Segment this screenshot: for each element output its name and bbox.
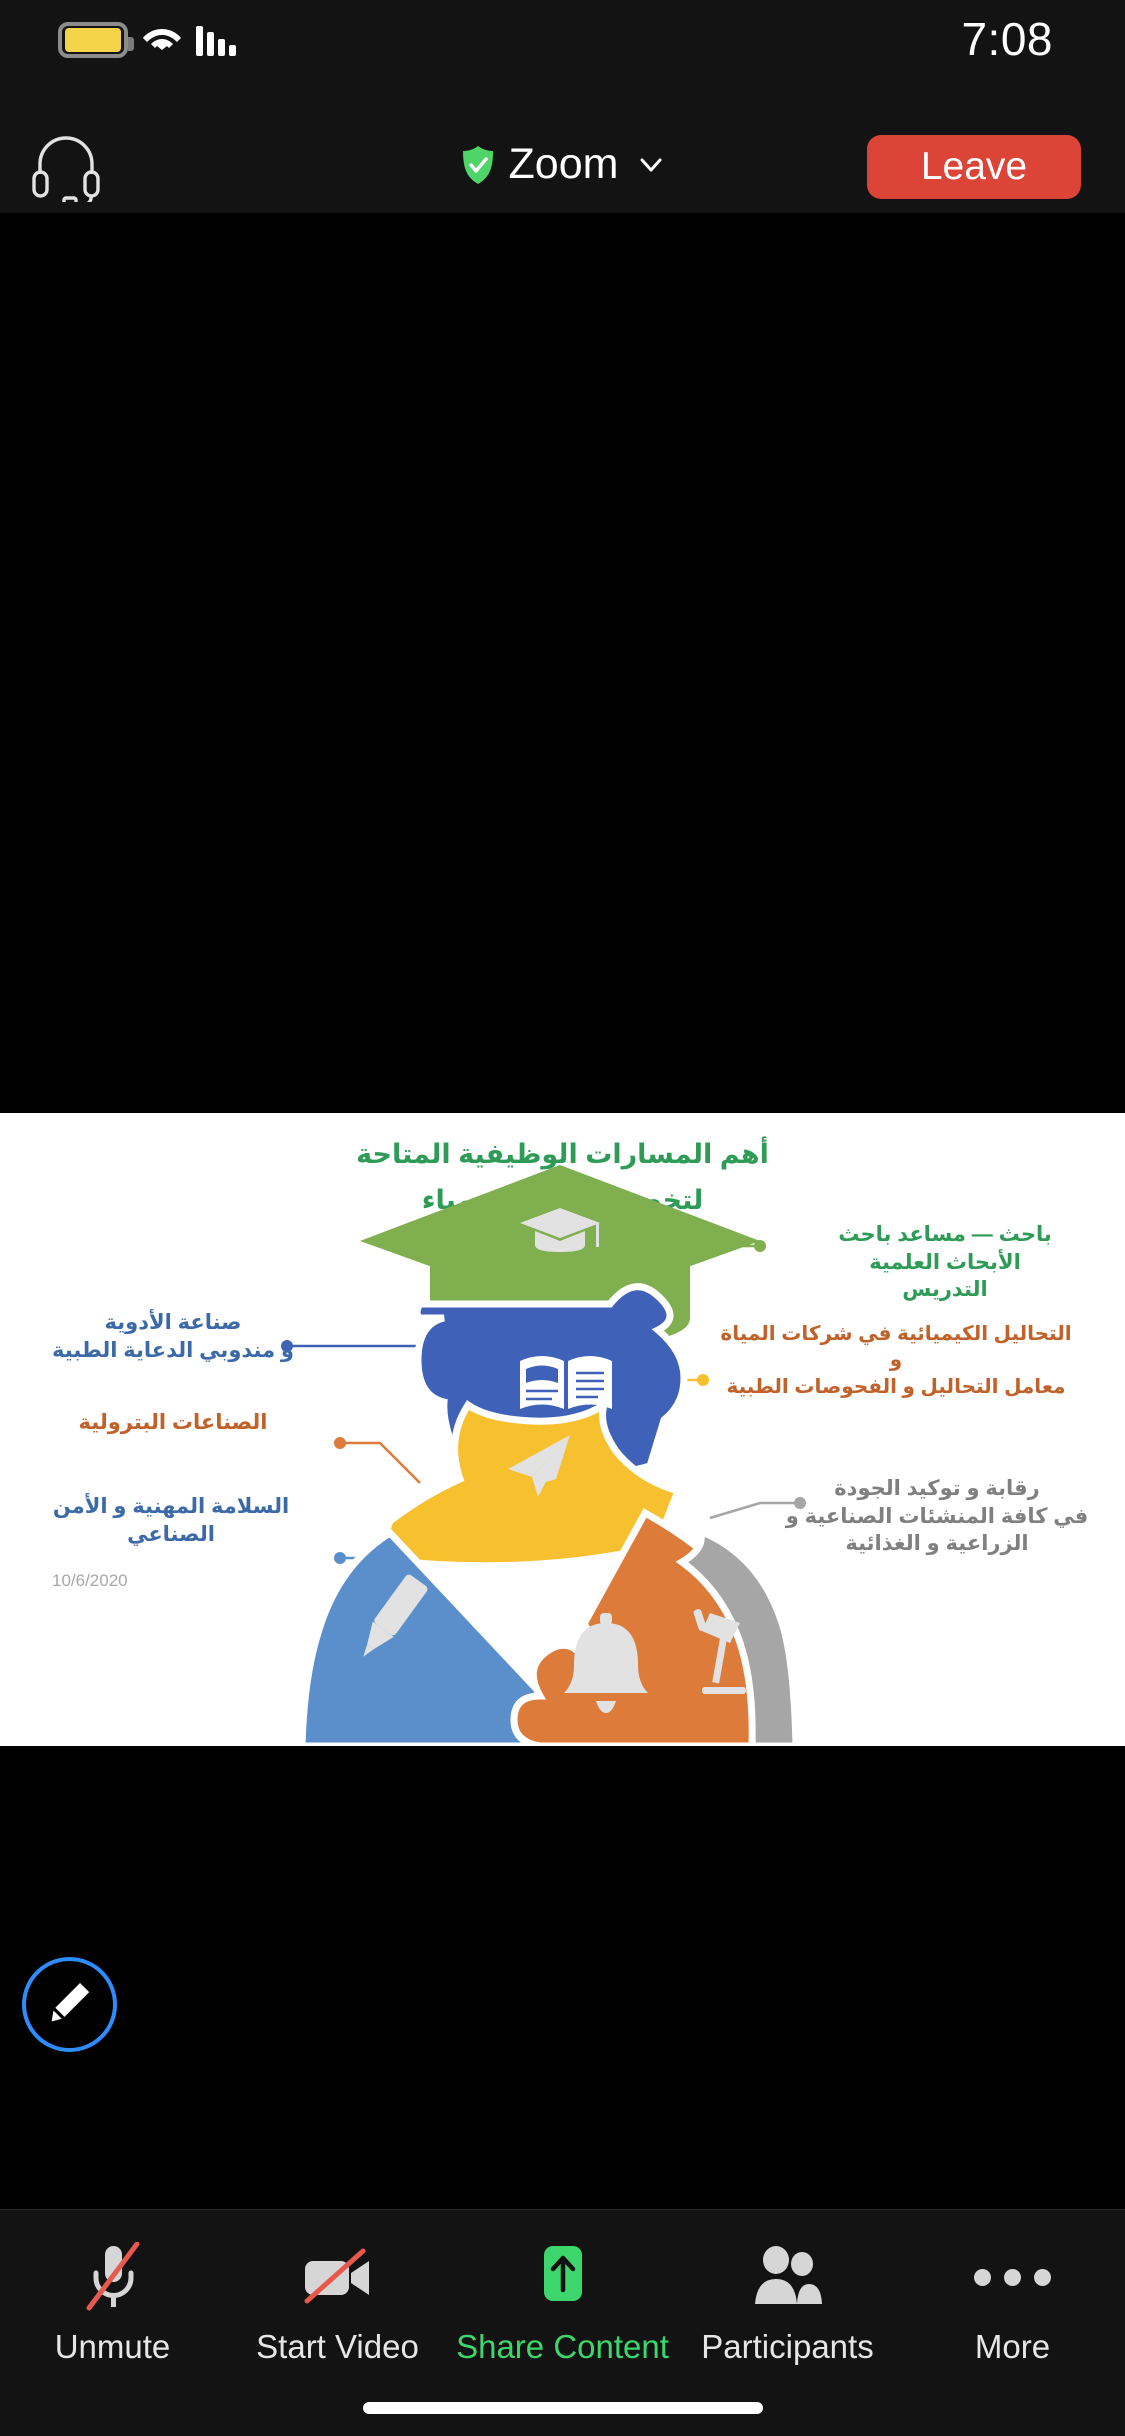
toolbar-item-participants[interactable]: Participants xyxy=(688,2242,888,2366)
meeting-header: Zoom Leave xyxy=(0,120,1125,213)
toolbar-item-more[interactable]: More xyxy=(913,2242,1113,2366)
leave-button[interactable]: Leave xyxy=(867,135,1081,199)
cellular-signal-icon xyxy=(196,24,236,56)
toolbar-item-unmute[interactable]: Unmute xyxy=(13,2242,213,2366)
annotate-button[interactable] xyxy=(22,1957,117,2052)
toolbar-label-more: More xyxy=(975,2328,1050,2366)
toolbar-label-start-video: Start Video xyxy=(256,2328,419,2366)
toolbar-item-start-video[interactable]: Start Video xyxy=(238,2242,438,2366)
label-research: باحث — مساعد باحث الأبحاث العلمية التدري… xyxy=(795,1221,1095,1304)
more-dots-icon xyxy=(974,2242,1051,2312)
slide-date: 10/6/2020 xyxy=(52,1571,128,1591)
share-screen-icon xyxy=(528,2242,598,2312)
toolbar-item-share-content[interactable]: Share Content xyxy=(463,2242,663,2366)
participants-icon xyxy=(751,2242,825,2312)
toolbar-label-share-content: Share Content xyxy=(456,2328,669,2366)
meeting-title: Zoom xyxy=(509,140,619,189)
meeting-title-group[interactable]: Zoom xyxy=(461,140,665,189)
status-bar-left-icons xyxy=(58,22,236,58)
video-stage[interactable]: أهم المسارات الوظيفية المتاحة لتخصص علوم… xyxy=(0,213,1125,2436)
home-indicator xyxy=(363,2402,763,2414)
status-bar-clock: 7:08 xyxy=(961,12,1053,66)
chevron-down-icon[interactable] xyxy=(638,152,664,178)
toolbar-label-unmute: Unmute xyxy=(55,2328,171,2366)
status-bar: 7:08 xyxy=(0,0,1125,120)
label-quality-assurance: رقابة و توكيد الجودة في كافة المنشئات ال… xyxy=(767,1475,1107,1558)
wifi-icon xyxy=(142,23,182,57)
microphone-muted-icon xyxy=(83,2242,143,2312)
label-petroleum-industries: الصناعات البترولية xyxy=(28,1409,318,1437)
label-pharmaceuticals: صناعة الأدوية و مندوبي الدعاية الطبية xyxy=(28,1309,318,1364)
toolbar-label-participants: Participants xyxy=(701,2328,873,2366)
shared-slide[interactable]: أهم المسارات الوظيفية المتاحة لتخصص علوم… xyxy=(0,1113,1125,1746)
label-water-and-medical-labs: التحاليل الكيميائية في شركات المياة و مع… xyxy=(681,1321,1111,1400)
video-off-icon xyxy=(301,2242,375,2312)
battery-low-power-icon xyxy=(58,22,128,58)
pencil-icon xyxy=(26,1961,113,2048)
label-occupational-safety: السلامة المهنية و الأمن الصناعي xyxy=(24,1493,318,1548)
phone-screen: 7:08 Zoom Leave xyxy=(0,0,1125,2436)
shield-check-icon xyxy=(461,145,495,185)
headset-icon[interactable] xyxy=(28,132,104,202)
